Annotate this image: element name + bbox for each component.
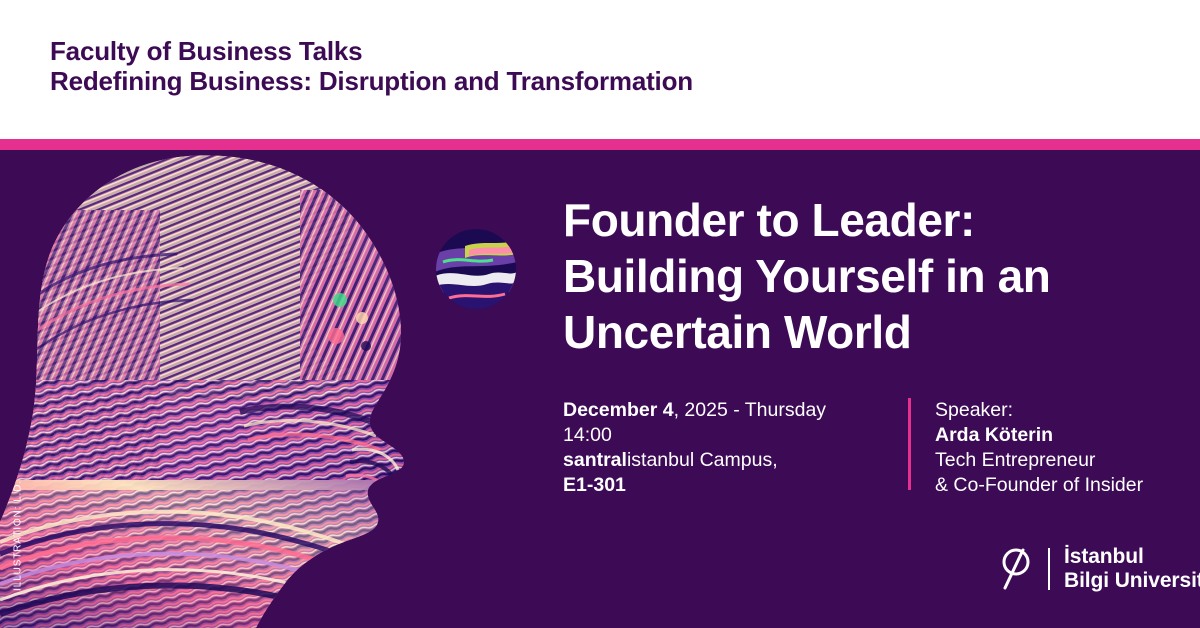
logo-line-1: İstanbul: [1064, 545, 1200, 569]
bilgi-pin-glyph: [992, 543, 1038, 595]
event-date-line: December 4, 2025 - Thursday: [563, 398, 908, 423]
bilgi-pin-icon: [992, 543, 1038, 595]
talk-title-line-1: Founder to Leader:: [563, 192, 1163, 248]
talk-title-line-3: Uncertain World: [563, 304, 1163, 360]
speaker-label: Speaker:: [935, 398, 1143, 423]
details-speaker-divider: [908, 398, 911, 490]
event-venue-line: santralistanbul Campus,: [563, 448, 908, 473]
series-title: Faculty of Business Talks: [50, 36, 1200, 66]
event-when-where: December 4, 2025 - Thursday 14:00 santra…: [563, 398, 908, 498]
glitch-head-illustration: ILLUSTRATION: L.D.: [0, 150, 540, 628]
speaker-block: Speaker: Arda Köterin Tech Entrepreneur …: [935, 398, 1143, 498]
talk-title: Founder to Leader: Building Yourself in …: [563, 192, 1163, 360]
event-venue-bold: santral: [563, 449, 627, 471]
illustration-credit: ILLUSTRATION: L.D.: [13, 456, 24, 616]
logo-line-2: Bilgi University: [1064, 569, 1200, 593]
event-date-rest: , 2025 - Thursday: [674, 399, 826, 421]
university-logo: İstanbul Bilgi University: [992, 543, 1200, 595]
talk-title-line-2: Building Yourself in an: [563, 248, 1163, 304]
logo-separator: [1048, 548, 1050, 590]
event-time: 14:00: [563, 423, 908, 448]
orb-artwork: [435, 228, 517, 310]
speaker-role-line-2: & Co-Founder of Insider: [935, 473, 1143, 498]
event-poster: Faculty of Business Talks Redefining Bus…: [0, 0, 1200, 628]
event-date-bold: December 4: [563, 399, 674, 421]
event-venue-rest: istanbul Campus,: [627, 449, 778, 471]
logo-wordmark: İstanbul Bilgi University: [1064, 545, 1200, 593]
event-details: December 4, 2025 - Thursday 14:00 santra…: [563, 398, 1183, 498]
header-divider-rule: [0, 139, 1200, 150]
speaker-role-line-1: Tech Entrepreneur: [935, 448, 1143, 473]
poster-header: Faculty of Business Talks Redefining Bus…: [0, 0, 1200, 139]
poster-body: ILLUSTRATION: L.D. Founder to Leader: Bu…: [0, 150, 1200, 628]
event-room: E1-301: [563, 473, 908, 498]
series-subtitle: Redefining Business: Disruption and Tran…: [50, 66, 1200, 96]
orb-accent: [435, 228, 517, 310]
glitch-head-artwork: [0, 150, 540, 628]
speaker-name: Arda Köterin: [935, 423, 1143, 448]
